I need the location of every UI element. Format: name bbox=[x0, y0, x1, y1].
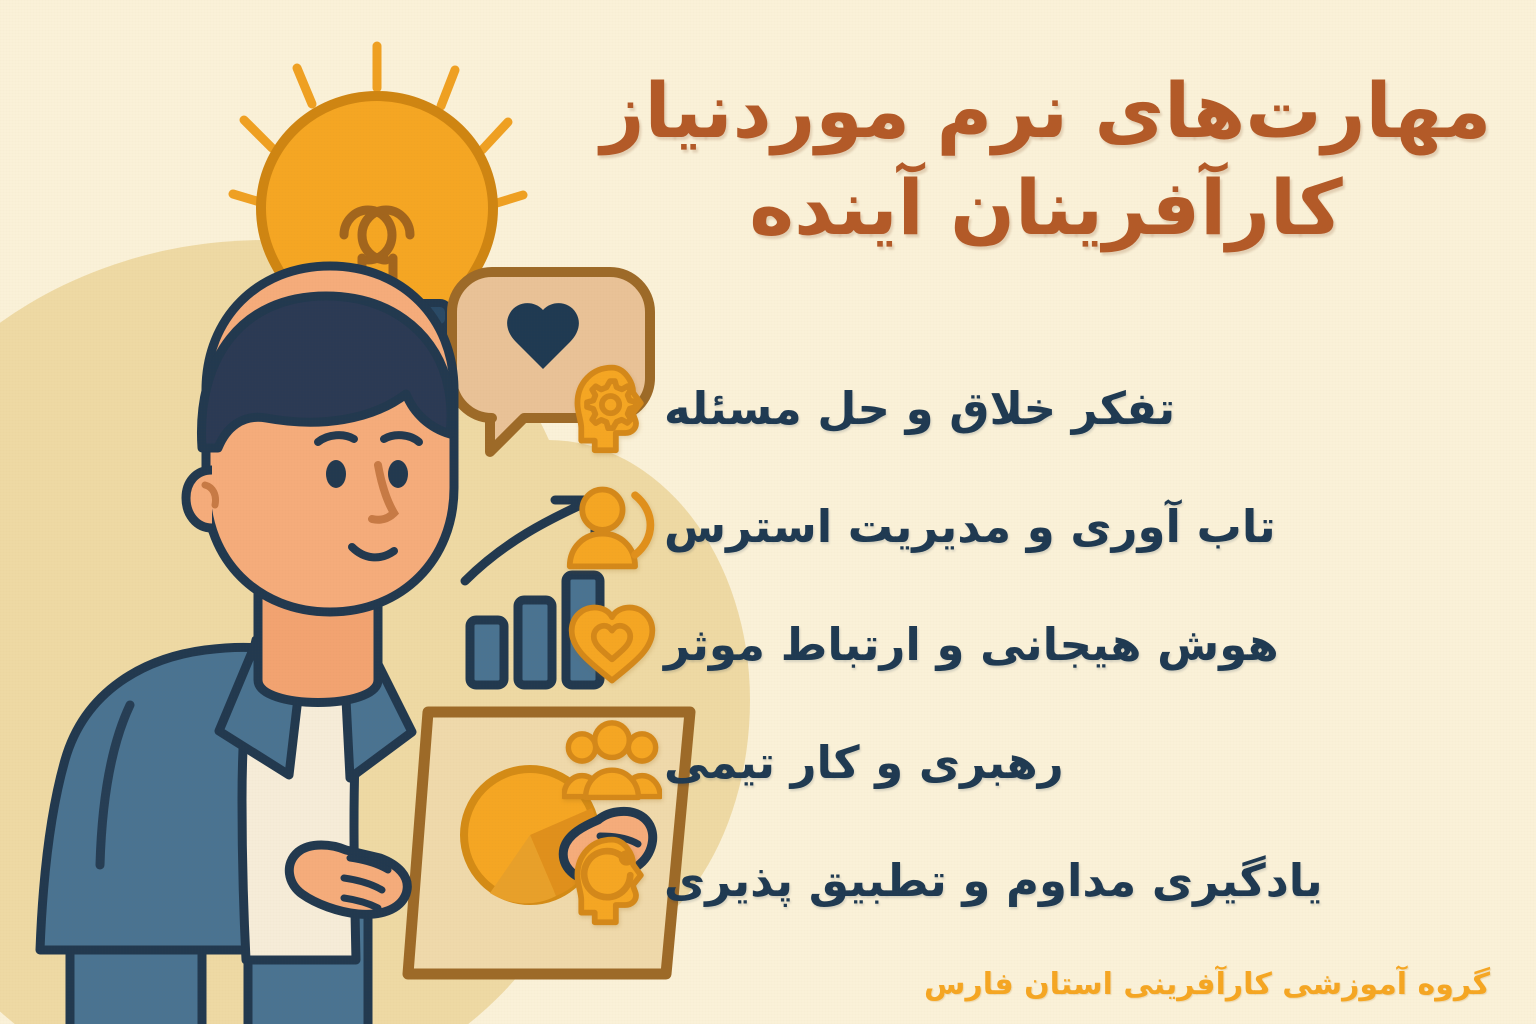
title-line-1: مهارت‌های نرم موردنیاز bbox=[596, 62, 1496, 159]
skills-list: تفکر خلاق و حل مسئله تاب آوری و مدیریت ا… bbox=[560, 352, 1490, 936]
footer-credit: گروه آموزشی کارآفرینی استان فارس bbox=[924, 967, 1490, 1002]
character-head bbox=[186, 266, 454, 703]
title-line-2: کارآفرینان آینده bbox=[596, 159, 1496, 256]
page-title: مهارت‌های نرم موردنیاز کارآفرینان آینده bbox=[596, 62, 1496, 257]
list-item: تاب آوری و مدیریت استرس bbox=[560, 470, 1490, 582]
skill-label: تفکر خلاق و حل مسئله bbox=[664, 386, 1201, 431]
list-item: یادگیری مداوم و تطبیق پذیری bbox=[560, 824, 1490, 936]
list-item: هوش هیجانی و ارتباط موثر bbox=[560, 588, 1490, 700]
skill-label: هوش هیجانی و ارتباط موثر bbox=[664, 622, 1305, 667]
skill-label: تاب آوری و مدیریت استرس bbox=[664, 504, 1302, 549]
list-item: تفکر خلاق و حل مسئله bbox=[560, 352, 1490, 464]
heart-icon bbox=[560, 592, 664, 696]
skill-label: یادگیری مداوم و تطبیق پذیری bbox=[664, 858, 1349, 903]
head-gear-icon bbox=[560, 356, 664, 460]
head-refresh-icon bbox=[560, 828, 664, 932]
list-item: رهبری و کار تیمی bbox=[560, 706, 1490, 818]
person-resilience-icon bbox=[560, 474, 664, 578]
skill-label: رهبری و کار تیمی bbox=[664, 740, 1090, 785]
infographic-poster: .ln{fill:none;stroke:#22394f;stroke-widt… bbox=[0, 0, 1536, 1024]
group-people-icon bbox=[560, 710, 664, 814]
